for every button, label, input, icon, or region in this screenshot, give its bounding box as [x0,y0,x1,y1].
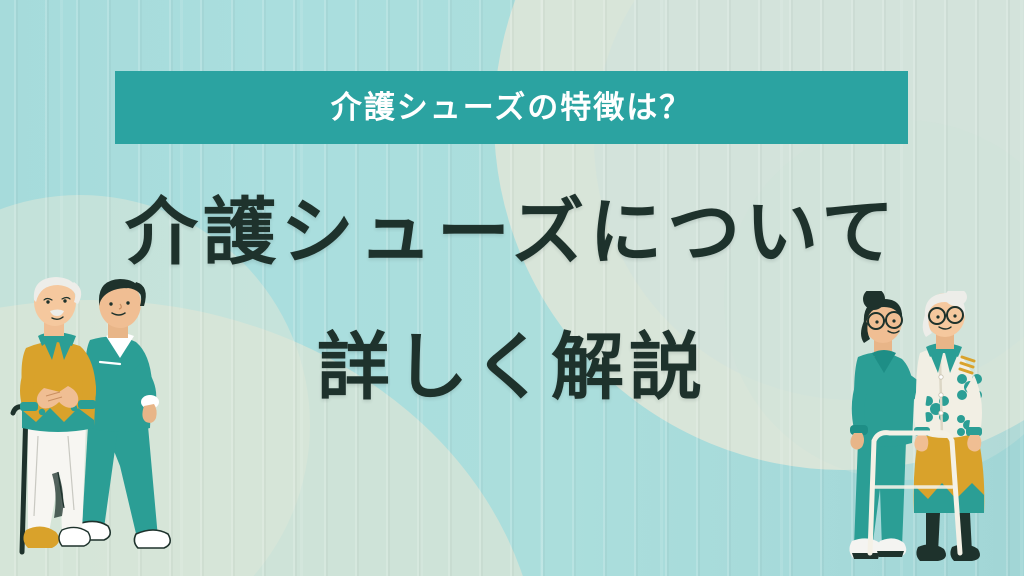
figure-elderly-woman [914,291,985,561]
illustration-elderly-woman-with-caregiver [844,291,994,576]
poster-canvas: 介護シューズの特徴は？ 介護シューズについて 詳しく解説 [0,0,1024,576]
eyebrow-banner-text: 介護シューズの特徴は？ [331,92,692,123]
eyebrow-banner: 介護シューズの特徴は？ [115,71,908,144]
illustration-elderly-man-with-caregiver [8,276,198,576]
